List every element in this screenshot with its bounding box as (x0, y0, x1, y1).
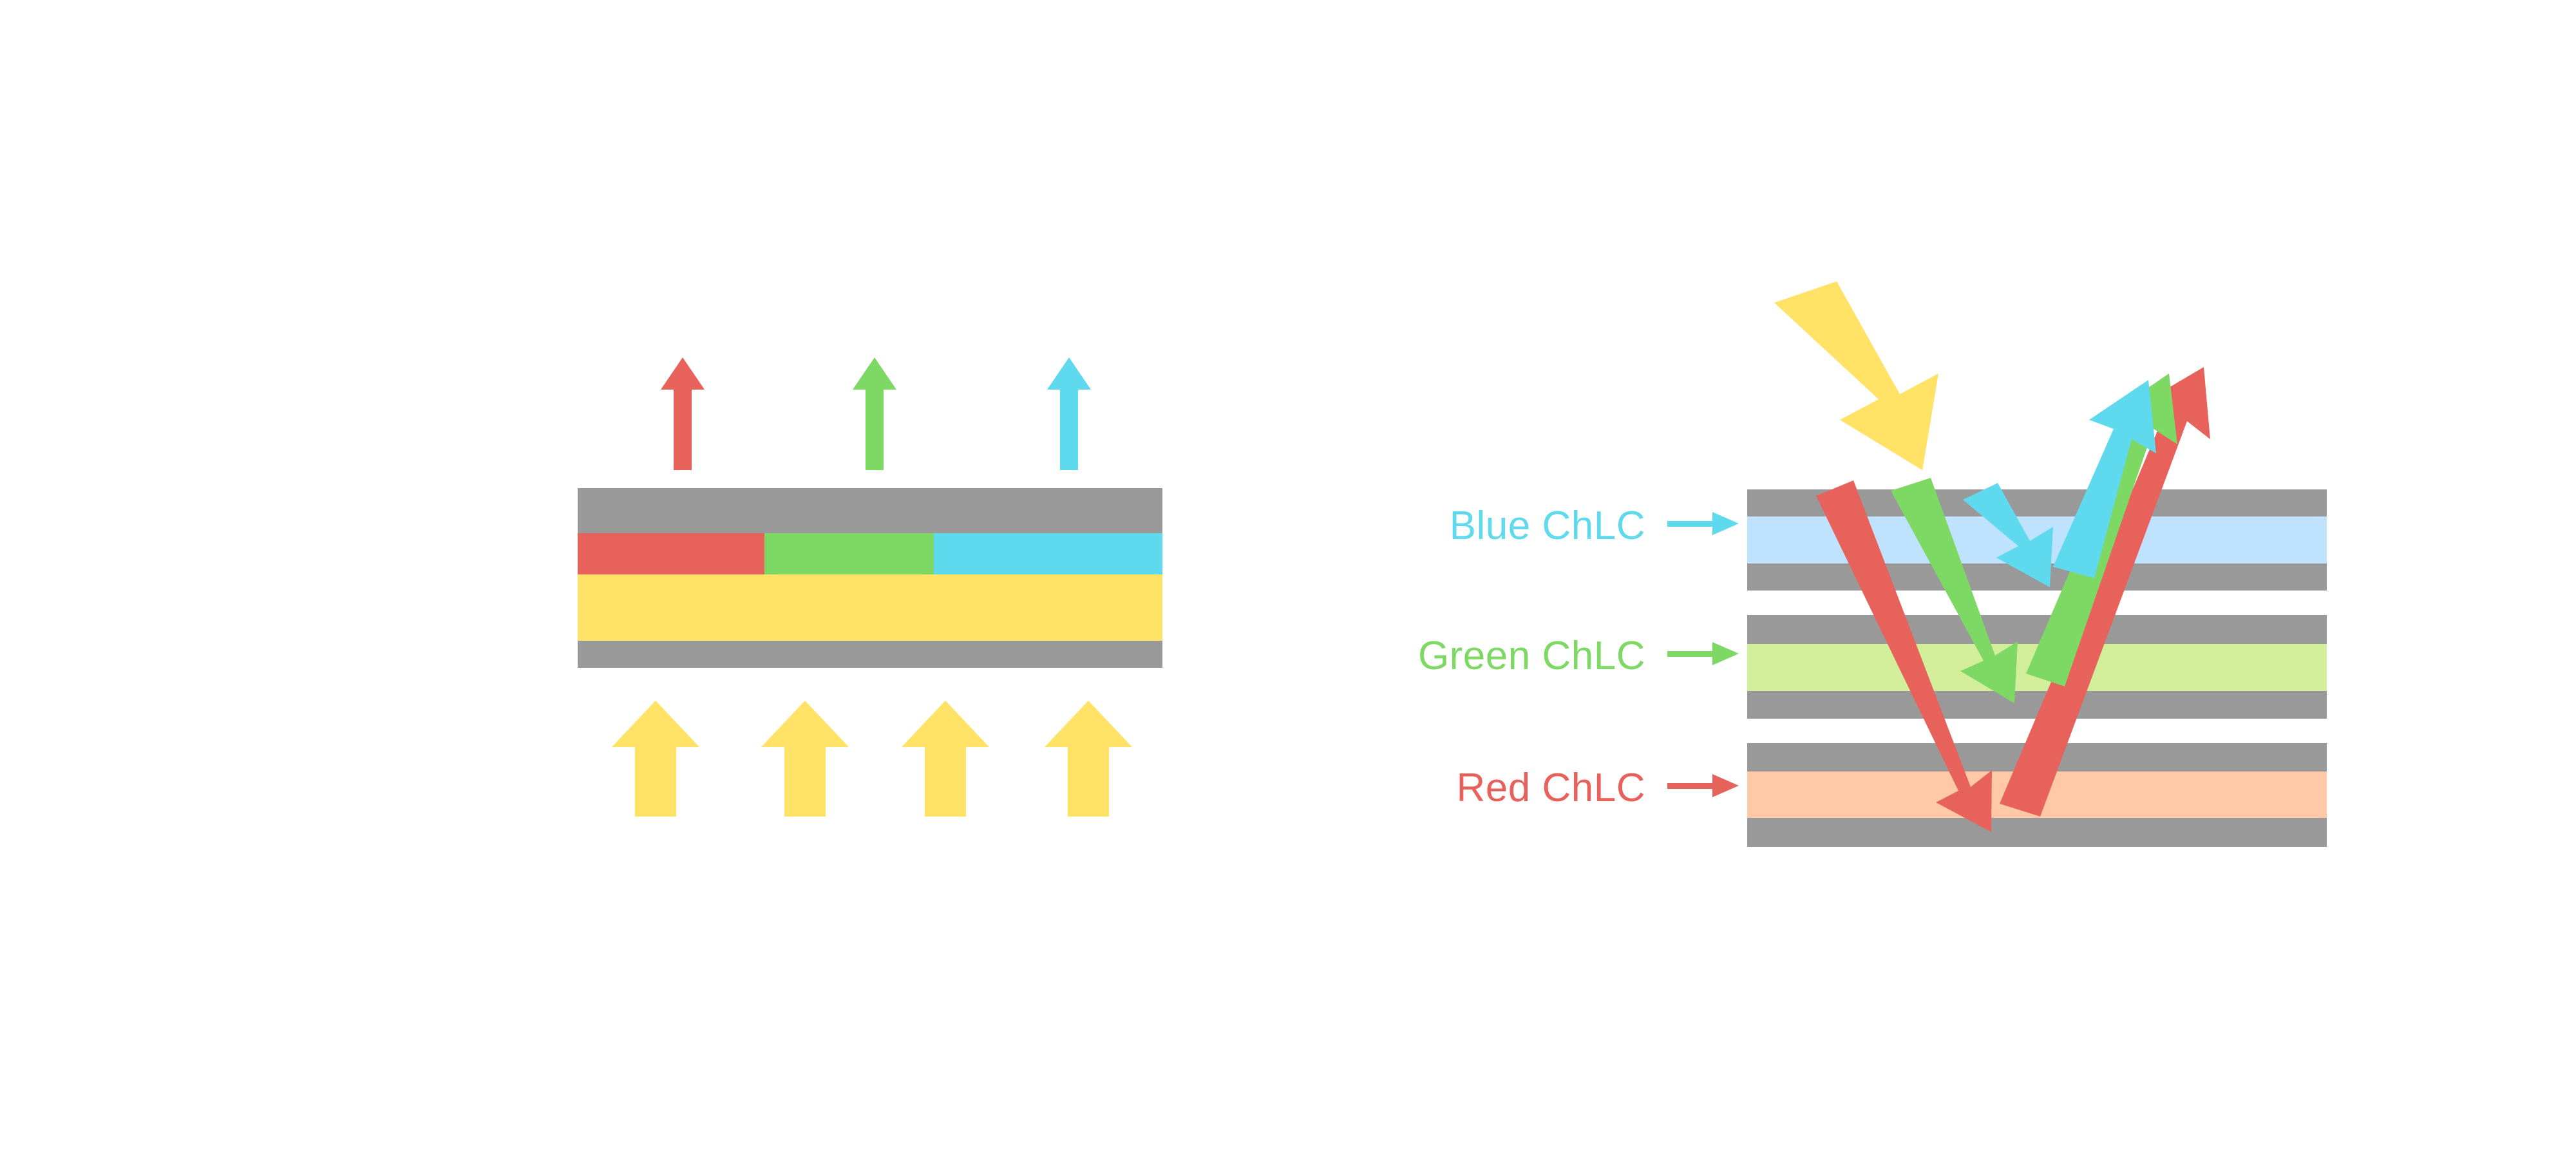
label-green-chlc-text: Green ChLC (1418, 634, 1645, 678)
label-blue-chlc-text: Blue ChLC (1450, 504, 1645, 548)
connector-arrow-green (1667, 642, 1739, 665)
diagram-canvas: Blue ChLC Green ChLC Red ChLC (0, 0, 2576, 1154)
label-red-chlc: Red ChLC (1457, 765, 1645, 811)
connector-arrow-red (1667, 774, 1739, 797)
right-panel-group (0, 0, 2576, 1154)
label-green-chlc: Green ChLC (1418, 633, 1645, 679)
label-connector-arrows (1667, 512, 1739, 797)
arrow-ambient-white-light (1774, 281, 1938, 470)
connector-arrow-blue (1667, 512, 1739, 535)
label-blue-chlc: Blue ChLC (1450, 503, 1645, 549)
label-red-chlc-text: Red ChLC (1457, 766, 1645, 810)
